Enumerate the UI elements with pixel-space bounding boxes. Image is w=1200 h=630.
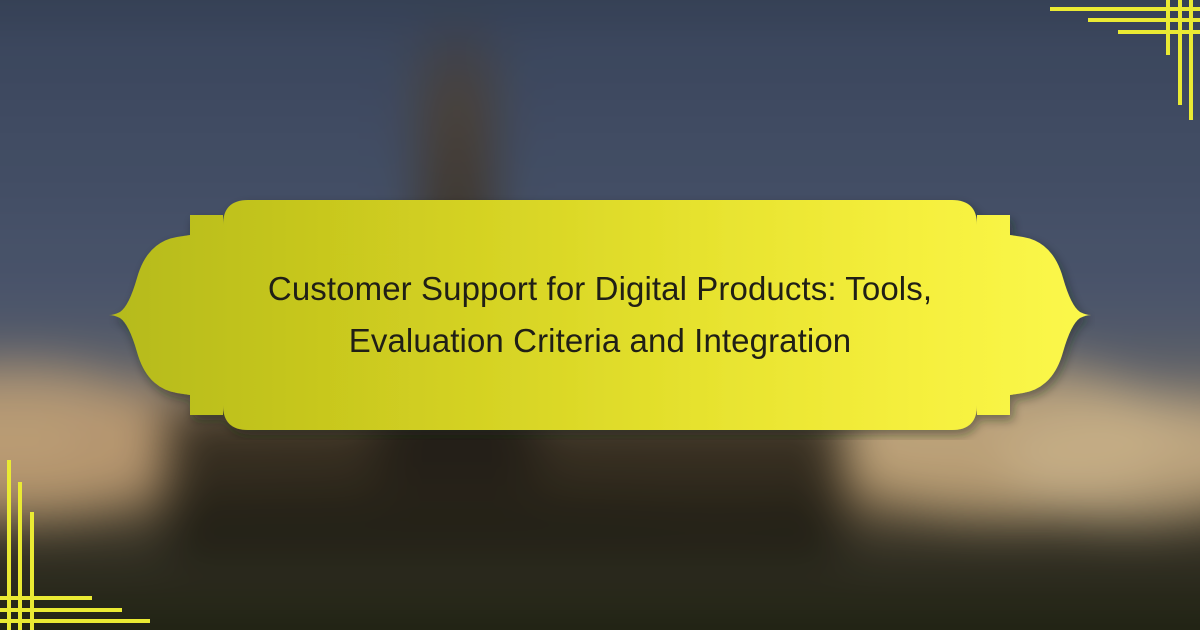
corner-line-horizontal <box>0 596 92 600</box>
badge-title-block: Customer Support for Digital Products: T… <box>200 190 1000 440</box>
corner-frame-top-right <box>1050 0 1200 120</box>
title-badge: Customer Support for Digital Products: T… <box>105 190 1095 440</box>
social-share-card: Customer Support for Digital Products: T… <box>0 0 1200 630</box>
corner-line-vertical <box>1178 0 1182 105</box>
corner-line-horizontal <box>1118 30 1200 34</box>
title-line-2: Evaluation Criteria and Integration <box>349 315 851 367</box>
corner-line-vertical <box>1166 0 1170 55</box>
corner-line-horizontal <box>0 619 150 623</box>
title-line-1: Customer Support for Digital Products: T… <box>268 263 932 315</box>
corner-line-vertical <box>7 460 11 630</box>
corner-frame-bottom-left <box>0 460 150 630</box>
corner-line-vertical <box>30 512 34 630</box>
corner-line-horizontal <box>1088 18 1200 22</box>
corner-line-vertical <box>18 482 22 630</box>
corner-line-vertical <box>1189 0 1193 120</box>
